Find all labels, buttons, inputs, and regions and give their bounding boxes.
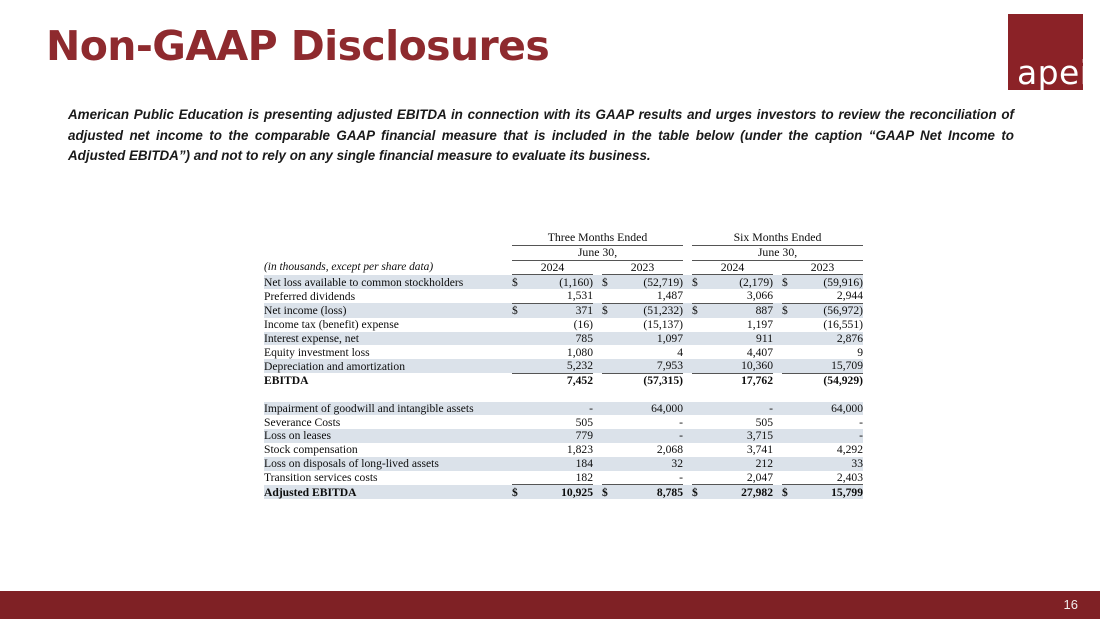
page-number: 16 — [1064, 597, 1078, 612]
table-row: Income tax (benefit) expense (16) (15,13… — [264, 318, 863, 332]
row-value: 3,715 — [708, 429, 773, 443]
row-label: Depreciation and amortization — [264, 359, 512, 373]
row-currency — [782, 443, 798, 457]
row-currency — [602, 332, 618, 346]
row-value: 1,531 — [528, 289, 593, 303]
header-spacer — [264, 231, 512, 245]
row-value: 4 — [618, 345, 683, 359]
row-currency — [602, 318, 618, 332]
col-gap — [593, 485, 602, 499]
row-value: - — [618, 429, 683, 443]
row-currency — [692, 457, 708, 471]
row-value: 371 — [528, 303, 593, 317]
group-header-three-months: Three Months Ended — [512, 231, 683, 245]
col-gap — [593, 345, 602, 359]
table-body: Net loss available to common stockholder… — [264, 275, 863, 499]
row-value: 8,785 — [618, 485, 683, 499]
row-currency: $ — [512, 485, 528, 499]
row-label: Preferred dividends — [264, 289, 512, 303]
col-gap — [593, 303, 602, 317]
row-value: - — [798, 415, 863, 429]
col-gap — [593, 289, 602, 303]
row-currency — [692, 415, 708, 429]
col-gap — [773, 415, 782, 429]
row-value: 1,487 — [618, 289, 683, 303]
row-value: 2,047 — [708, 471, 773, 485]
row-value: 64,000 — [618, 402, 683, 416]
row-value: 911 — [708, 332, 773, 346]
row-label: Interest expense, net — [264, 332, 512, 346]
row-value: 779 — [528, 429, 593, 443]
col-gap — [773, 443, 782, 457]
non-gaap-reconciliation-table: Three Months Ended Six Months Ended June… — [264, 231, 863, 499]
header-row-group: Three Months Ended Six Months Ended — [264, 231, 863, 245]
row-label: Severance Costs — [264, 415, 512, 429]
row-value: 64,000 — [798, 402, 863, 416]
col-gap — [683, 318, 692, 332]
row-value: 7,452 — [528, 373, 593, 387]
col-gap — [683, 457, 692, 471]
row-value: 32 — [618, 457, 683, 471]
row-value: 1,097 — [618, 332, 683, 346]
row-currency — [602, 345, 618, 359]
row-value: 1,197 — [708, 318, 773, 332]
intro-paragraph-text: American Public Education is presenting … — [68, 105, 1014, 167]
col-gap — [683, 415, 692, 429]
footer-bar — [0, 591, 1100, 619]
row-currency — [692, 359, 708, 373]
row-value: 27,982 — [708, 485, 773, 499]
row-value: 3,741 — [708, 443, 773, 457]
row-currency — [512, 457, 528, 471]
row-label: Income tax (benefit) expense — [264, 318, 512, 332]
row-value: 3,066 — [708, 289, 773, 303]
col-gap — [683, 303, 692, 317]
col-gap — [593, 415, 602, 429]
row-value: 33 — [798, 457, 863, 471]
row-value: 2,876 — [798, 332, 863, 346]
row-value: (57,315) — [618, 373, 683, 387]
row-value: - — [618, 415, 683, 429]
row-label: Loss on leases — [264, 429, 512, 443]
col-gap — [773, 359, 782, 373]
year-header-ytd-2024: 2024 — [692, 260, 773, 275]
row-currency — [782, 429, 798, 443]
row-value: (15,137) — [618, 318, 683, 332]
row-currency — [782, 415, 798, 429]
row-currency: $ — [602, 275, 618, 289]
table-row: Loss on disposals of long-lived assets 1… — [264, 457, 863, 471]
col-gap — [773, 275, 782, 289]
row-currency — [692, 471, 708, 485]
row-value: - — [528, 402, 593, 416]
row-value: 4,292 — [798, 443, 863, 457]
col-gap — [683, 471, 692, 485]
table-row: Depreciation and amortization 5,232 7,95… — [264, 359, 863, 373]
col-gap — [593, 373, 602, 387]
row-currency — [512, 443, 528, 457]
row-value: 184 — [528, 457, 593, 471]
col-gap — [593, 318, 602, 332]
row-currency — [692, 318, 708, 332]
row-currency — [512, 415, 528, 429]
intro-paragraph-block: American Public Education is presenting … — [68, 105, 1014, 167]
col-gap — [683, 345, 692, 359]
row-currency: $ — [692, 275, 708, 289]
row-value: (2,179) — [708, 275, 773, 289]
col-gap — [593, 471, 602, 485]
table-row: Equity investment loss 1,080 4 4,407 9 — [264, 345, 863, 359]
row-value: 15,799 — [798, 485, 863, 499]
year-gap-1 — [593, 260, 602, 275]
col-gap — [683, 443, 692, 457]
row-value: 2,944 — [798, 289, 863, 303]
spacer-cell — [264, 388, 863, 402]
row-value: (54,929) — [798, 373, 863, 387]
row-currency — [602, 373, 618, 387]
row-value: 212 — [708, 457, 773, 471]
row-label: Stock compensation — [264, 443, 512, 457]
row-value: (59,916) — [798, 275, 863, 289]
row-currency — [782, 318, 798, 332]
row-currency — [602, 471, 618, 485]
col-gap — [773, 332, 782, 346]
col-gap — [593, 457, 602, 471]
row-value: 5,232 — [528, 359, 593, 373]
header-gap-2 — [683, 245, 692, 260]
col-gap — [773, 471, 782, 485]
row-label: Transition services costs — [264, 471, 512, 485]
row-value: 7,953 — [618, 359, 683, 373]
table-row-ebitda: EBITDA 7,452 (57,315) 17,762 (54,929) — [264, 373, 863, 387]
table-row: Loss on leases 779 - 3,715 - — [264, 429, 863, 443]
row-value: - — [798, 429, 863, 443]
row-currency — [512, 318, 528, 332]
row-currency — [512, 429, 528, 443]
row-value: 17,762 — [708, 373, 773, 387]
row-currency — [602, 402, 618, 416]
row-currency — [512, 402, 528, 416]
table-row-adjusted-ebitda: Adjusted EBITDA $ 10,925 $ 8,785 $ 27,98… — [264, 485, 863, 499]
col-gap — [683, 332, 692, 346]
row-currency: $ — [602, 303, 618, 317]
row-label: Net income (loss) — [264, 303, 512, 317]
row-value: 785 — [528, 332, 593, 346]
table-block-spacer — [264, 388, 863, 402]
table-row: Impairment of goodwill and intangible as… — [264, 402, 863, 416]
col-gap — [683, 429, 692, 443]
row-value: 1,080 — [528, 345, 593, 359]
row-currency — [692, 429, 708, 443]
row-currency — [782, 373, 798, 387]
row-label: Impairment of goodwill and intangible as… — [264, 402, 512, 416]
row-currency — [692, 402, 708, 416]
row-currency — [782, 402, 798, 416]
col-gap — [683, 373, 692, 387]
group-subheader-six-months: June 30, — [692, 245, 863, 260]
row-label: Equity investment loss — [264, 345, 512, 359]
row-currency: $ — [782, 275, 798, 289]
col-gap — [683, 402, 692, 416]
row-currency — [512, 289, 528, 303]
col-gap — [773, 303, 782, 317]
table-header: Three Months Ended Six Months Ended June… — [264, 231, 863, 275]
col-gap — [683, 359, 692, 373]
header-row-years: (in thousands, except per share data) 20… — [264, 260, 863, 275]
row-value: 505 — [708, 415, 773, 429]
row-value: 2,403 — [798, 471, 863, 485]
logo-wordmark: apei — [1017, 56, 1089, 89]
col-gap — [773, 429, 782, 443]
financial-table-container: Three Months Ended Six Months Ended June… — [264, 231, 836, 499]
row-value: 505 — [528, 415, 593, 429]
row-value: - — [708, 402, 773, 416]
col-gap — [593, 402, 602, 416]
row-value: (52,719) — [618, 275, 683, 289]
row-value: (51,232) — [618, 303, 683, 317]
row-currency — [692, 443, 708, 457]
row-currency — [602, 359, 618, 373]
row-currency: $ — [782, 303, 798, 317]
col-gap — [683, 485, 692, 499]
table-row: Preferred dividends 1,531 1,487 3,066 2,… — [264, 289, 863, 303]
row-currency — [782, 471, 798, 485]
row-value: 15,709 — [798, 359, 863, 373]
slide-root: { "slide": { "title": "Non-GAAP Disclosu… — [0, 0, 1100, 619]
row-currency — [602, 289, 618, 303]
row-currency — [782, 345, 798, 359]
row-currency — [692, 373, 708, 387]
row-value: (16,551) — [798, 318, 863, 332]
row-currency: $ — [512, 275, 528, 289]
row-currency — [512, 345, 528, 359]
col-gap — [773, 318, 782, 332]
row-currency — [512, 373, 528, 387]
col-gap — [773, 345, 782, 359]
row-currency — [782, 289, 798, 303]
row-value: (1,160) — [528, 275, 593, 289]
col-gap — [593, 359, 602, 373]
group-subheader-three-months: June 30, — [512, 245, 683, 260]
col-gap — [773, 485, 782, 499]
table-row: Net income (loss) $ 371 $ (51,232) $ 887… — [264, 303, 863, 317]
page-title: Non-GAAP Disclosures — [46, 22, 549, 70]
row-label: Net loss available to common stockholder… — [264, 275, 512, 289]
apei-logo: apei — [1008, 14, 1083, 90]
row-currency — [602, 415, 618, 429]
row-currency: $ — [692, 303, 708, 317]
row-currency: $ — [782, 485, 798, 499]
table-row: Interest expense, net 785 1,097 911 2,87… — [264, 332, 863, 346]
row-value: 2,068 — [618, 443, 683, 457]
group-header-six-months: Six Months Ended — [692, 231, 863, 245]
row-currency — [602, 429, 618, 443]
row-currency — [602, 457, 618, 471]
row-currency — [512, 359, 528, 373]
row-value: (56,972) — [798, 303, 863, 317]
table-row: Severance Costs 505 - 505 - — [264, 415, 863, 429]
row-label: Adjusted EBITDA — [264, 485, 512, 499]
year-header-q-2023: 2023 — [602, 260, 683, 275]
row-value: 10,925 — [528, 485, 593, 499]
row-label: Loss on disposals of long-lived assets — [264, 457, 512, 471]
header-gap — [683, 231, 692, 245]
row-currency — [512, 332, 528, 346]
table-row: Transition services costs 182 - 2,047 2,… — [264, 471, 863, 485]
row-label: EBITDA — [264, 373, 512, 387]
row-currency: $ — [512, 303, 528, 317]
row-currency: $ — [602, 485, 618, 499]
col-gap — [773, 457, 782, 471]
row-value: 10,360 — [708, 359, 773, 373]
col-gap — [593, 429, 602, 443]
row-currency — [782, 457, 798, 471]
header-spacer-2 — [264, 245, 512, 260]
row-currency — [692, 332, 708, 346]
col-gap — [683, 275, 692, 289]
year-gap-3 — [773, 260, 782, 275]
year-header-q-2024: 2024 — [512, 260, 593, 275]
col-gap — [773, 289, 782, 303]
year-gap-2 — [683, 260, 692, 275]
row-value: - — [618, 471, 683, 485]
col-gap — [593, 275, 602, 289]
col-gap — [773, 373, 782, 387]
row-currency — [782, 332, 798, 346]
col-gap — [773, 402, 782, 416]
row-value: 182 — [528, 471, 593, 485]
header-row-subgroup: June 30, June 30, — [264, 245, 863, 260]
row-value: 1,823 — [528, 443, 593, 457]
row-currency — [782, 359, 798, 373]
year-header-ytd-2023: 2023 — [782, 260, 863, 275]
row-currency — [602, 443, 618, 457]
row-currency — [692, 345, 708, 359]
row-value: (16) — [528, 318, 593, 332]
col-gap — [683, 289, 692, 303]
row-value: 887 — [708, 303, 773, 317]
row-currency: $ — [692, 485, 708, 499]
col-gap — [593, 332, 602, 346]
row-value: 4,407 — [708, 345, 773, 359]
row-currency — [692, 289, 708, 303]
col-gap — [593, 443, 602, 457]
table-row: Stock compensation 1,823 2,068 3,741 4,2… — [264, 443, 863, 457]
row-currency — [512, 471, 528, 485]
table-caption: (in thousands, except per share data) — [264, 260, 512, 275]
row-value: 9 — [798, 345, 863, 359]
table-row: Net loss available to common stockholder… — [264, 275, 863, 289]
